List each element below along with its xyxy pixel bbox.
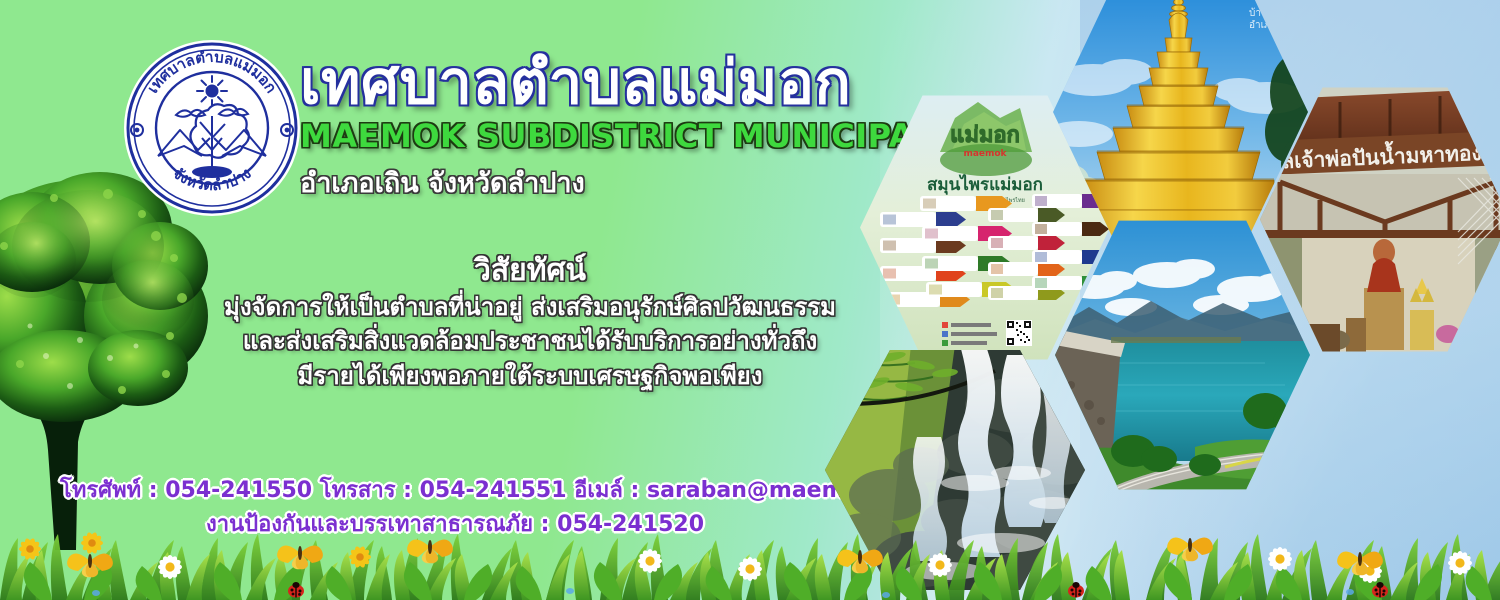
- municipality-banner: เทศบาลตำบลแม่มอก จังหวัดลำปาง: [0, 0, 1500, 600]
- vision-statement: วิสัยทัศน์ มุ่งจัดการให้เป็นตำบลที่น่าอย…: [210, 252, 850, 394]
- pagoda-subcaption-2: อำเภ: [1249, 20, 1271, 31]
- yellow-flower: [81, 531, 104, 554]
- vision-line-2: และส่งเสริมสิ่งแวดล้อมประชาชนได้รับบริกา…: [210, 324, 850, 359]
- pagoda-subcaption: บ้านกุ่: [1249, 7, 1274, 19]
- contact-phone-fax-email[interactable]: โทรศัพท์ : 054-241550 โทรสาร : 054-24155…: [60, 474, 850, 508]
- herbal-brand-text: แม่มอก: [950, 123, 1020, 148]
- herbal-caption: สมุนไพรแม่มอก: [927, 174, 1043, 195]
- sun-icon: [197, 76, 227, 106]
- hexagon-photo-collage: แม่มอก maemok สมุนไพรแม่มอก ภูมิปัญญา จา…: [805, 0, 1500, 590]
- vision-heading: วิสัยทัศน์: [210, 252, 850, 290]
- vision-line-1: มุ่งจัดการให้เป็นตำบลที่น่าอยู่ ส่งเสริม…: [210, 290, 850, 325]
- vision-line-3: มีรายได้เพียงพอภายใต้ระบบเศรษฐกิจพอเพียง: [210, 359, 850, 394]
- grass-flower-border: [0, 505, 1500, 600]
- municipal-seal-logo: เทศบาลตำบลแม่มอก จังหวัดลำปาง: [122, 38, 302, 218]
- herbal-brand-en: maemok: [963, 149, 1007, 159]
